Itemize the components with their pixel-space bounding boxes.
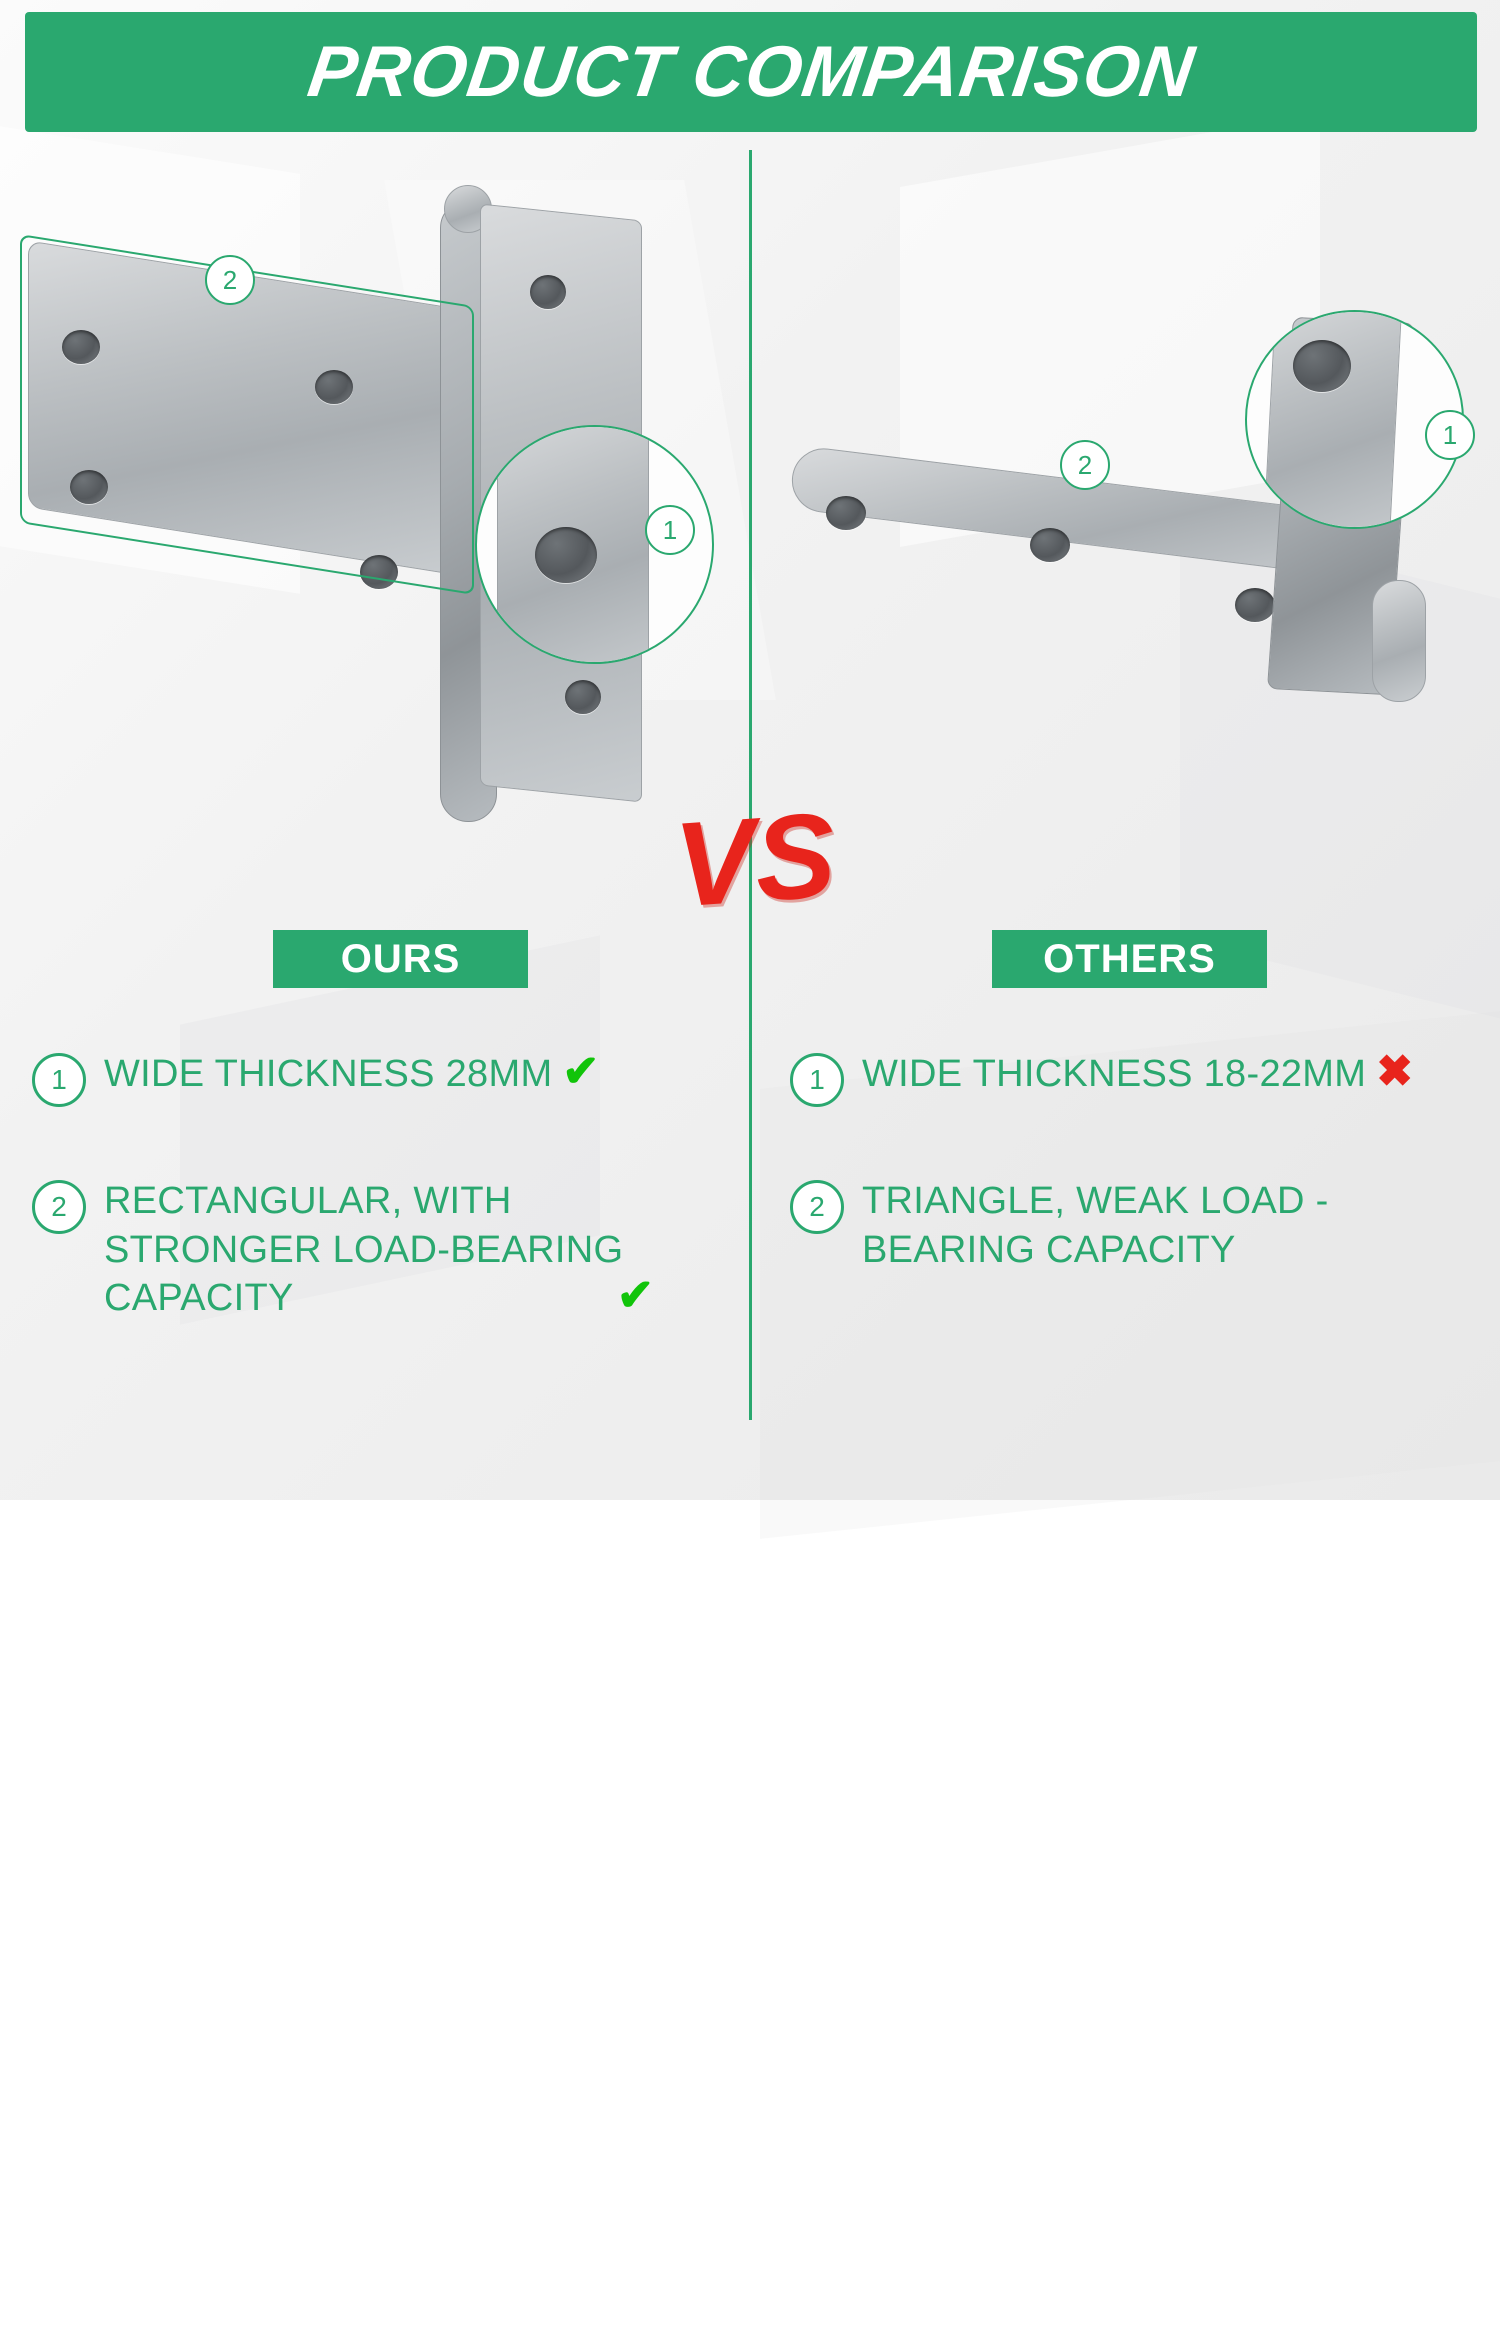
others-chip: OTHERS [992,930,1267,988]
callout-badge-1: 1 [1425,410,1475,460]
bullet-number: 2 [32,1180,86,1234]
ours-chip-label: OURS [341,937,461,982]
screw-hole [1235,588,1275,622]
bullet-text: WIDE THICKNESS 28MM✔ [104,1050,600,1099]
callout-badge-2-label: 2 [1078,450,1092,481]
comparison-poster: PRODUCT COMPARISON 2 1 [0,0,1500,1500]
ours-chip: OURS [273,930,528,988]
cross-icon: ✖ [1376,1050,1413,1094]
callout-badge-2-label: 2 [223,265,237,296]
vs-label: VS [648,753,861,966]
list-item: 1 WIDE THICKNESS 18-22MM✖ [790,1050,1480,1107]
screw-hole [1030,528,1070,562]
others-feature-list: 1 WIDE THICKNESS 18-22MM✖ 2 TRIANGLE, WE… [790,1050,1480,1312]
bullet-text: RECTANGULAR, WITH STRONGER LOAD-BEARING … [104,1177,664,1323]
bullet-text: WIDE THICKNESS 18-22MM✖ [862,1050,1413,1099]
list-item: 2 RECTANGULAR, WITH STRONGER LOAD-BEARIN… [32,1177,722,1323]
list-item: 1 WIDE THICKNESS 28MM✔ [32,1050,722,1107]
bullet-text-label: WIDE THICKNESS 18-22MM [862,1053,1366,1095]
others-product-photo: 2 1 [780,300,1480,730]
bullet-text-label: TRIANGLE, WEAK LOAD -BEARING CAPACITY [862,1180,1329,1271]
ours-feature-list: 1 WIDE THICKNESS 28MM✔ 2 RECTANGULAR, WI… [32,1050,722,1361]
bullet-text-label: WIDE THICKNESS 28MM [104,1053,552,1095]
bullet-text: TRIANGLE, WEAK LOAD -BEARING CAPACITY✖ [862,1177,1382,1274]
check-icon: ✔ [617,1274,654,1318]
ours-product-photo: 2 1 [20,170,720,850]
callout-badge-1-label: 1 [663,515,677,546]
callout-badge-2: 2 [1060,440,1110,490]
bullet-number: 1 [32,1053,86,1107]
header-banner: PRODUCT COMPARISON [25,12,1477,132]
zoom-screw-hole [1293,340,1351,392]
check-icon: ✔ [562,1050,599,1094]
callout-badge-1-label: 1 [1443,420,1457,451]
callout-badge-2: 2 [205,255,255,305]
bullet-number: 2 [790,1180,844,1234]
callout-badge-1: 1 [645,505,695,555]
bullet-number: 1 [790,1053,844,1107]
bullet-text-label: RECTANGULAR, WITH STRONGER LOAD-BEARING … [104,1180,623,1319]
zoom-screw-hole [535,527,597,583]
others-chip-label: OTHERS [1043,937,1216,982]
screw-hole [565,680,601,714]
hinge-knuckle [1372,580,1426,702]
screw-hole [530,275,566,309]
screw-hole [826,496,866,530]
page-title: PRODUCT COMPARISON [303,31,1199,113]
list-item: 2 TRIANGLE, WEAK LOAD -BEARING CAPACITY✖ [790,1177,1480,1274]
